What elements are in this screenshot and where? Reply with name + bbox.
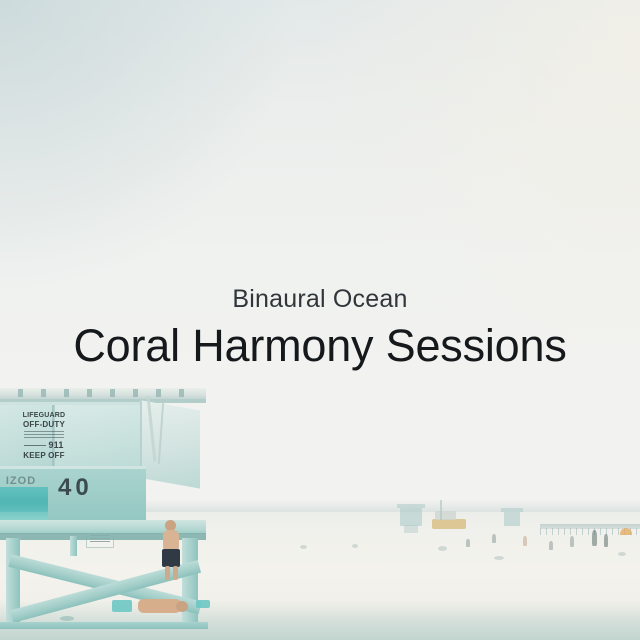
person-legs — [165, 566, 170, 580]
beach-person — [523, 536, 527, 546]
person-shorts — [162, 549, 180, 567]
tower-post-inner — [70, 536, 77, 556]
beach-person — [549, 541, 553, 550]
beach-object — [60, 616, 74, 621]
standing-person — [160, 520, 182, 580]
far-tower-roof — [397, 504, 425, 508]
tower-number: 40 — [58, 474, 93, 502]
vehicle-mast — [440, 500, 442, 520]
beach-object — [438, 546, 447, 551]
sky-blue-cast — [0, 0, 300, 300]
beach-person — [492, 534, 496, 543]
tower-base-rail — [0, 622, 208, 629]
person-torso — [163, 530, 179, 550]
beach-object — [352, 544, 358, 548]
lying-person — [128, 595, 194, 617]
beach-towel — [112, 600, 132, 612]
person-legs — [173, 566, 178, 580]
artist-name: Binaural Ocean — [0, 286, 640, 314]
far-lifeguard-tower-2 — [504, 512, 520, 526]
sign-line-lifeguard: LIFEGUARD — [18, 412, 70, 419]
beach-object — [494, 556, 504, 560]
tower-roof-bolts — [0, 389, 190, 397]
beach-vehicle — [432, 519, 466, 529]
lifeguard-off-duty-sign: LIFEGUARD OFF-DUTY 911 KEEP OFF — [18, 412, 70, 458]
beach-object — [300, 545, 307, 549]
far-tower-roof-2 — [501, 508, 523, 512]
vehicle-cab — [435, 511, 456, 520]
beach-towel — [196, 600, 210, 608]
sign-line-off-duty: OFF-DUTY — [18, 421, 70, 429]
beach-object — [618, 552, 626, 556]
album-cover-artwork: LIFEGUARD OFF-DUTY 911 KEEP OFF IZOD 40 — [0, 0, 640, 640]
beach-umbrella — [620, 528, 632, 535]
far-tower-1-legs — [404, 525, 418, 533]
album-title: Coral Harmony Sessions — [0, 322, 640, 369]
person-head — [176, 601, 188, 612]
sign-emergency-number: 911 — [48, 441, 63, 450]
sign-fine-print — [24, 431, 64, 439]
beach-person — [466, 539, 470, 547]
beach-person — [570, 536, 574, 547]
sign-line-keep-off: KEEP OFF — [18, 452, 70, 460]
text-overlay: Binaural Ocean Coral Harmony Sessions — [0, 286, 640, 369]
tower-roof — [0, 388, 206, 399]
sign-emergency-row: 911 — [18, 441, 70, 450]
beach-person — [592, 530, 597, 546]
beach-person — [604, 534, 608, 547]
sign-rule — [24, 445, 46, 446]
far-lifeguard-tower-1 — [400, 508, 422, 526]
